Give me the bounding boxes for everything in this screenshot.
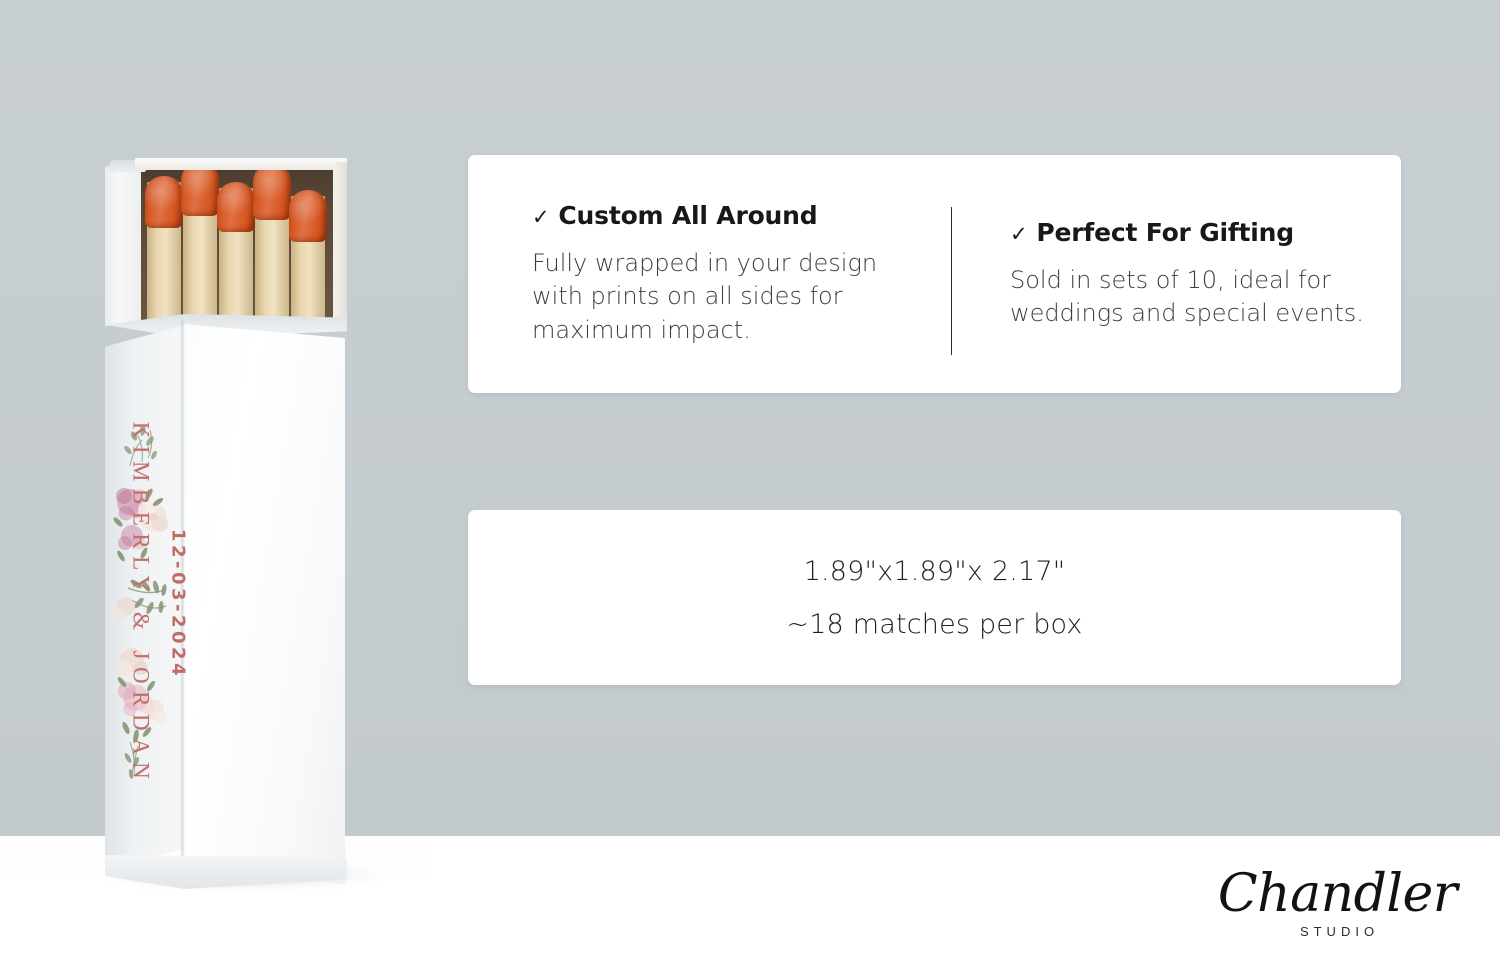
matchbox-print: KIMBERLY & JORDAN 12-03-2024 <box>183 324 345 884</box>
brand-name: Chandler <box>1215 868 1460 920</box>
feature-heading: ✓ Perfect For Gifting <box>1010 218 1401 247</box>
brand-logo: Chandler STUDIO <box>1215 868 1460 946</box>
check-icon: ✓ <box>532 207 549 228</box>
check-icon: ✓ <box>1010 224 1027 245</box>
feature-item-custom-all-around: ✓ Custom All Around Fully wrapped in you… <box>468 201 951 346</box>
feature-title: Perfect For Gifting <box>1036 218 1294 247</box>
product-photo: KIMBERLY & JORDAN 12-03-2024 <box>60 120 440 910</box>
feature-description: Fully wrapped in your design with prints… <box>532 247 912 346</box>
feature-description: Sold in sets of 10, ideal for weddings a… <box>1010 264 1370 330</box>
tray-top-rim <box>135 158 347 170</box>
feature-item-perfect-for-gifting: ✓ Perfect For Gifting Sold in sets of 10… <box>951 218 1401 330</box>
couple-names-print: KIMBERLY & JORDAN <box>128 422 154 787</box>
product-dimensions: 1.89"x1.89"x 2.17" <box>804 556 1066 587</box>
brand-subtitle: STUDIO <box>1215 924 1460 939</box>
match-count: ~18 matches per box <box>786 609 1082 640</box>
dimensions-card: 1.89"x1.89"x 2.17" ~18 matches per box <box>468 510 1401 685</box>
wedding-date-print: 12-03-2024 <box>167 529 188 679</box>
features-card: ✓ Custom All Around Fully wrapped in you… <box>468 155 1401 393</box>
infographic-canvas: KIMBERLY & JORDAN 12-03-2024 ✓ Custom Al… <box>0 0 1500 953</box>
matchbox-sleeve: KIMBERLY & JORDAN 12-03-2024 <box>80 280 380 880</box>
feature-heading: ✓ Custom All Around <box>532 201 951 230</box>
feature-column-divider <box>951 207 952 355</box>
feature-title: Custom All Around <box>558 201 817 230</box>
